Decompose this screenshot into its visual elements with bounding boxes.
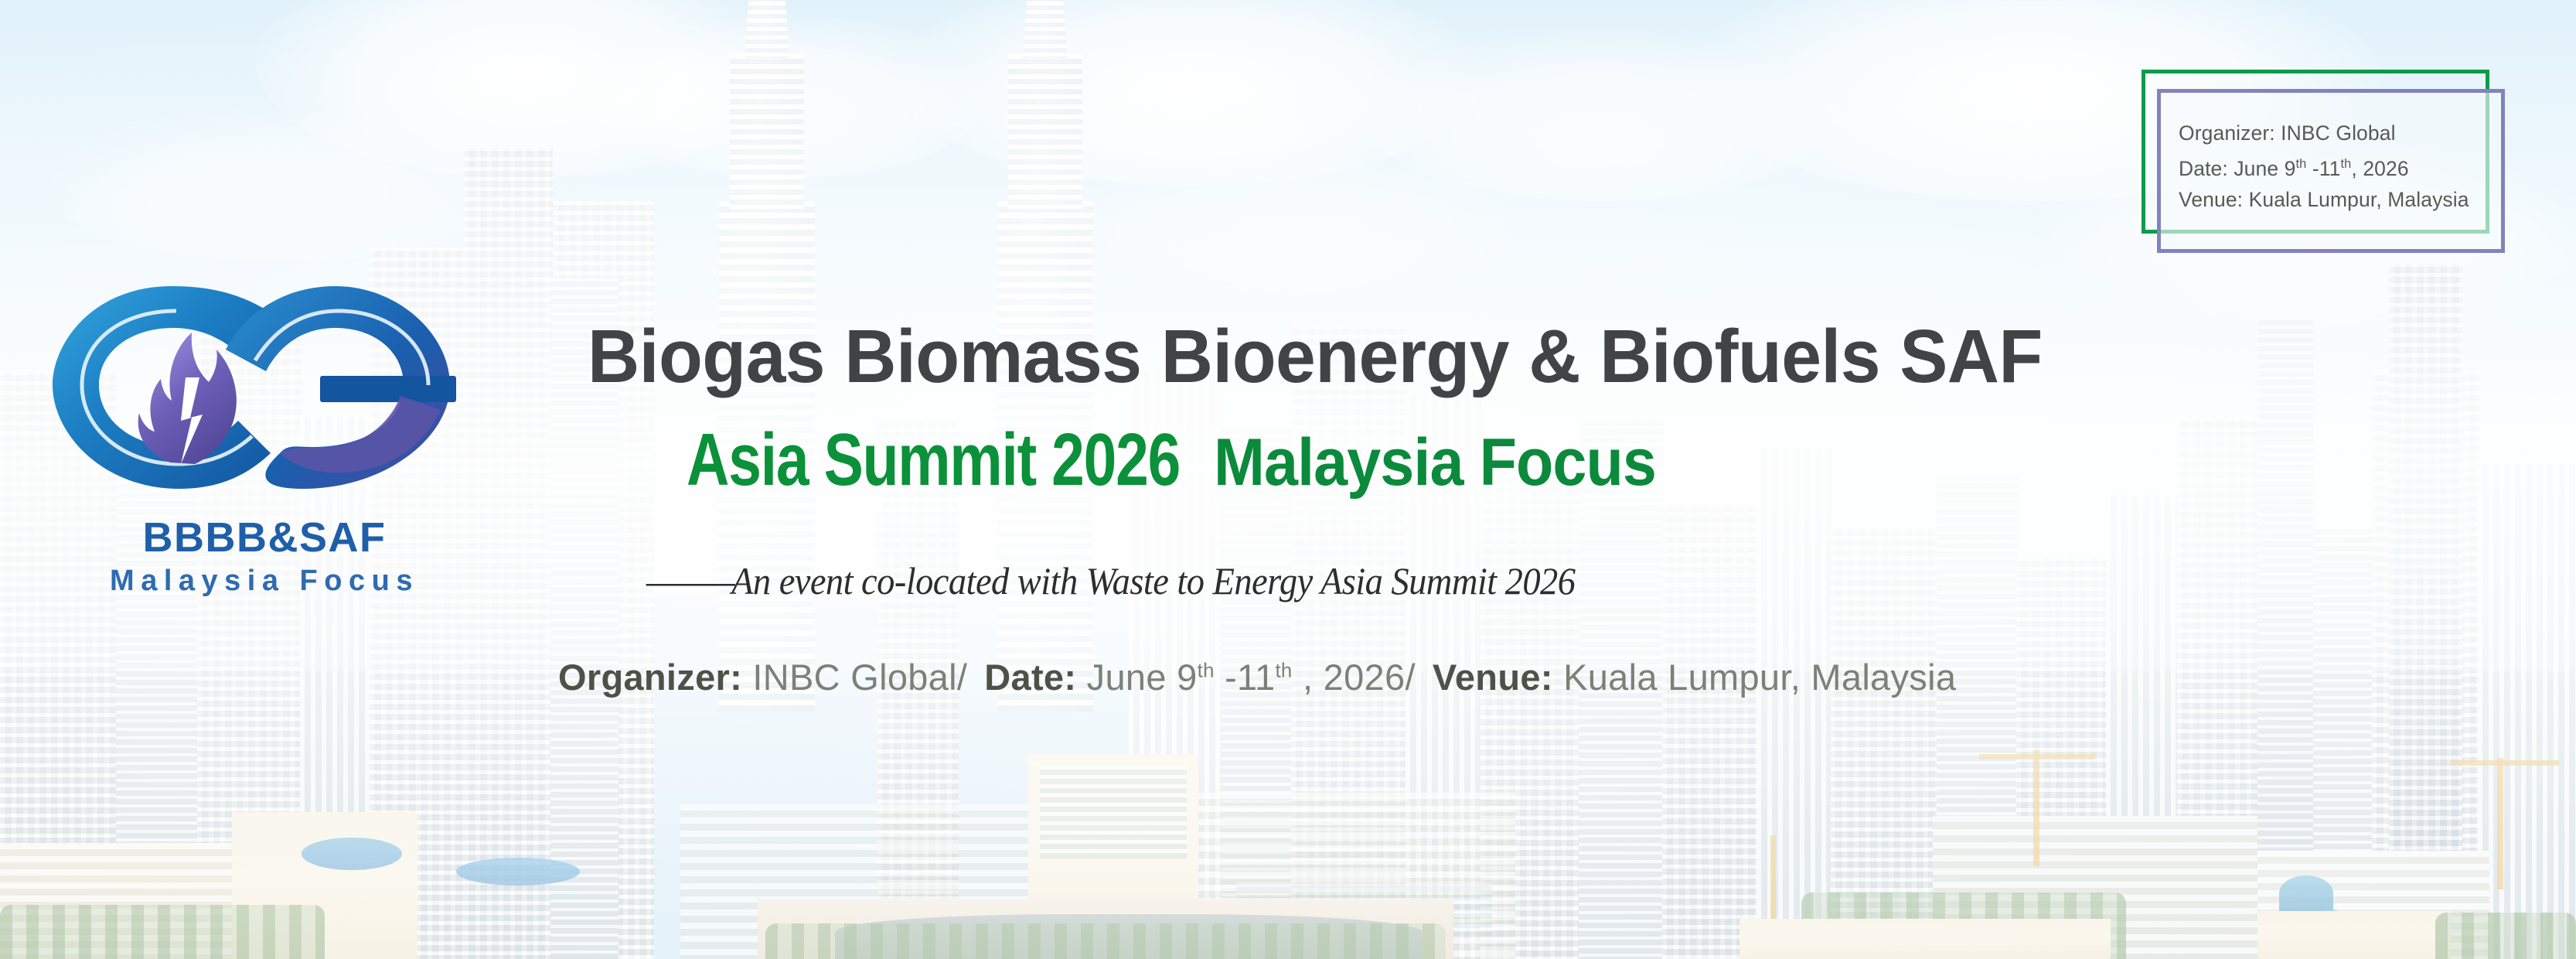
event-banner: Organizer: INBC Global Date: June 9th -1…: [0, 0, 2576, 959]
banner-content: Organizer: INBC Global Date: June 9th -1…: [0, 0, 2576, 959]
logo-tagline: Malaysia Focus: [48, 565, 481, 598]
detail-date-label: Date:: [984, 657, 1076, 698]
detail-venue-label: Venue:: [1433, 657, 1553, 698]
ce-infinity-flame-icon: [48, 269, 481, 501]
event-title-main: Biogas Biomass Bioenergy & Biofuels SAF: [588, 319, 2043, 395]
info-date-sup2: th: [2341, 157, 2352, 171]
info-date-a: Date:: [2179, 157, 2228, 180]
detail-date-a: June 9: [1087, 657, 1198, 698]
info-date-b: June 9: [2234, 157, 2295, 180]
detail-organizer-value: INBC Global/: [752, 657, 967, 698]
detail-date-sup1: th: [1198, 660, 1215, 681]
detail-organizer-label: Organizer:: [558, 657, 742, 698]
info-box-text: Organizer: INBC Global Date: June 9th -1…: [2179, 118, 2503, 215]
event-title-sub-regular: Malaysia Focus: [1214, 429, 1656, 497]
detail-date-c: , 2026/: [1293, 657, 1416, 698]
detail-date-b: -11: [1215, 657, 1276, 698]
info-organizer-line: Organizer: INBC Global: [2179, 118, 2503, 148]
colocated-rule: ———: [646, 559, 731, 602]
brand-logo: BBBB&SAF Malaysia Focus: [48, 269, 481, 656]
colocated-note: ———An event co-located with Waste to Ene…: [646, 558, 1575, 603]
info-date-sup1: th: [2295, 157, 2306, 171]
info-date-c: -11: [2306, 157, 2340, 180]
event-title-sub: Asia Summit 2026 Malaysia Focus: [687, 422, 1695, 498]
detail-date-sup2: th: [1275, 660, 1292, 681]
event-title-sub-strong: Asia Summit 2026: [687, 422, 1180, 498]
info-date-d: , 2026: [2351, 157, 2408, 180]
info-venue-line: Venue: Kuala Lumpur, Malaysia: [2179, 184, 2503, 215]
detail-venue-value: Kuala Lumpur, Malaysia: [1563, 657, 1956, 698]
colocated-text: An event co-located with Waste to Energy…: [731, 559, 1575, 602]
event-detail-line: Organizer: INBC Global/Date: June 9th -1…: [558, 656, 1956, 698]
event-info-box: Organizer: INBC Global Date: June 9th -1…: [2142, 70, 2505, 247]
info-date-line: Date: June 9th -11th, 2026: [2179, 148, 2503, 184]
logo-name: BBBB&SAF: [48, 514, 481, 561]
